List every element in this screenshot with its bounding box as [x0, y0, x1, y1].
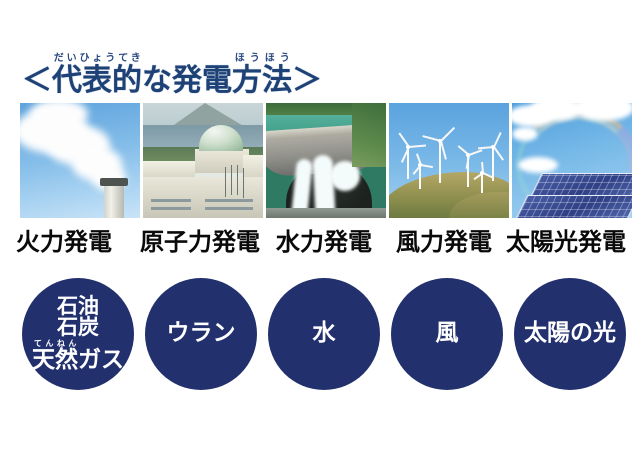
title-ruby-houhou: 方法ほうほう [232, 53, 292, 96]
wind-turbines-photo [389, 103, 509, 218]
turbine-mast [481, 173, 483, 193]
wind-turbine [481, 173, 483, 193]
solar-panel [513, 195, 632, 218]
plant-building [143, 177, 263, 218]
fuel-line-coal: 石炭 [57, 317, 99, 338]
turbine-mast [419, 165, 421, 189]
turbine-hub [480, 171, 484, 175]
title-ruby-daihyouteki: 代表的だいひょうてき [52, 53, 142, 96]
fuel-furigana-tennen: てんねん [32, 339, 78, 348]
title-furigana-daihyouteki: だいひょうてき [52, 53, 142, 64]
turbine-hub [418, 163, 422, 167]
label-nuclear-power: 原子力発電 [140, 226, 260, 258]
hydroelectric-dam-photo [266, 103, 386, 218]
fuel-circle-wind-text: 風 [436, 322, 459, 345]
solar-panels-photo [512, 103, 632, 218]
turbine-blade [421, 164, 433, 168]
fuel-line-wind: 風 [436, 322, 459, 345]
power-generation-label-row: 火力発電 原子力発電 水力発電 風力発電 太陽光発電 [0, 226, 644, 258]
fuel-base-tennen: 天然 [32, 347, 78, 373]
wind-turbine [419, 165, 421, 189]
title-close-bracket: ＞ [292, 66, 322, 96]
turbine-blade [409, 145, 426, 148]
energy-source-circle-row: 石油 石炭 天然てんねんガス ウラン 水 風 太陽の光 [22, 278, 632, 390]
label-wind-power: 風力発電 [396, 226, 492, 258]
power-generation-photo-row [20, 103, 638, 218]
title-furigana-houhou: ほうほう [232, 53, 292, 64]
fuel-line-sunlight: 太陽の光 [524, 322, 616, 345]
fuel-circle-uranium-text: ウラン [167, 322, 236, 345]
smokestack [104, 184, 124, 218]
fuel-line-water: 水 [313, 322, 336, 345]
title-open-bracket: ＜ [22, 66, 52, 96]
page-title: ＜代表的だいひょうてきな発電方法ほうほう＞ [22, 44, 322, 96]
fuel-circle-wind: 風 [391, 278, 503, 390]
label-hydro-power: 水力発電 [276, 226, 372, 258]
wind-turbine [407, 147, 409, 179]
reactor-building-base [195, 149, 249, 173]
transmission-pylon [231, 165, 232, 195]
nuclear-power-plant-photo [143, 103, 263, 218]
foreground-railing [266, 208, 386, 218]
wind-turbine [439, 141, 441, 183]
title-base-houhou: 方法 [232, 63, 292, 98]
turbine-hub [438, 139, 442, 143]
fuel-circle-fossil: 石油 石炭 天然てんねんガス [22, 278, 134, 390]
fuel-circle-water-text: 水 [313, 322, 336, 345]
fuel-ruby-tennen: 天然てんねん [32, 347, 78, 373]
label-solar-power: 太陽光発電 [506, 226, 626, 258]
wind-turbine [467, 155, 469, 187]
fuel-circle-sunlight: 太陽の光 [514, 278, 626, 390]
cloud [512, 127, 538, 141]
turbine-hub [466, 153, 470, 157]
turbine-blade [469, 149, 483, 156]
fuel-circle-uranium: ウラン [145, 278, 257, 390]
turbine-blade [493, 146, 504, 160]
turbine-blade [440, 141, 447, 160]
fuel-circle-sunlight-text: 太陽の光 [524, 322, 616, 345]
fuel-suffix-gas: ガス [78, 347, 124, 373]
title-base-daihyouteki: 代表的 [52, 63, 142, 98]
building-window-row [205, 199, 253, 202]
building-window-row [151, 207, 191, 210]
page-title-text: ＜代表的だいひょうてきな発電方法ほうほう＞ [22, 53, 322, 96]
smokestack-cap [100, 178, 128, 186]
cloud [518, 157, 558, 173]
fuel-circle-fossil-text: 石油 石炭 天然てんねんガス [32, 296, 124, 372]
title-base-hatsuden: 発電 [172, 66, 232, 96]
fuel-line-oil: 石油 [57, 296, 99, 317]
thermal-power-plant-smokestack-photo [20, 103, 140, 218]
hillside-trees [352, 103, 386, 167]
fuel-line-natural-gas: 天然てんねんガス [32, 339, 124, 372]
building-window-row [205, 207, 253, 210]
label-thermal-power: 火力発電 [16, 226, 112, 258]
turbine-hub [406, 145, 410, 149]
mountain [171, 103, 245, 127]
fuel-line-uranium: ウラン [167, 322, 236, 345]
building-window-row [151, 199, 191, 202]
turbine-blade [440, 127, 455, 142]
title-base-na: な [142, 66, 172, 96]
turbine-hub [491, 145, 495, 149]
fuel-circle-water: 水 [268, 278, 380, 390]
